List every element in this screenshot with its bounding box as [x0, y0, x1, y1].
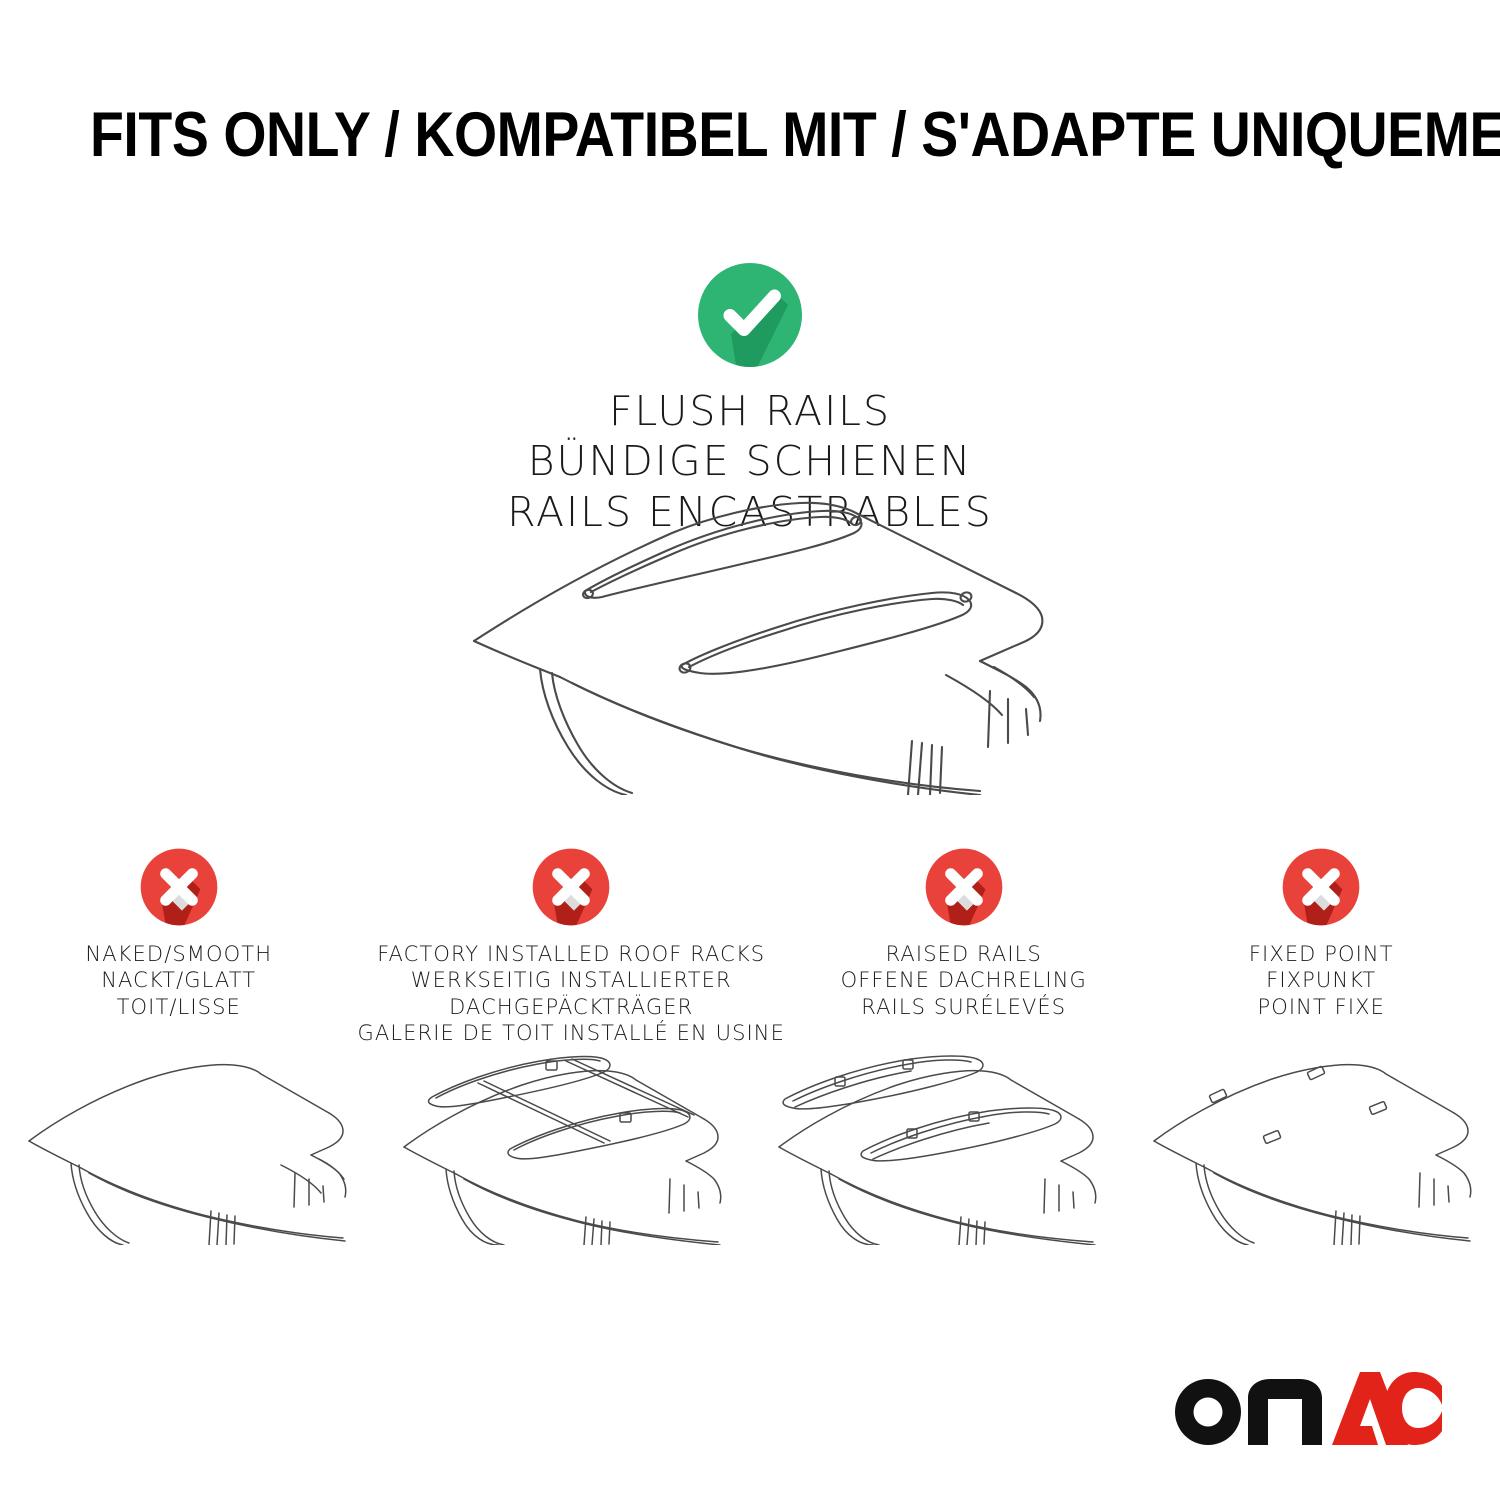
check-circle-icon — [693, 258, 807, 372]
incompatible-column-raised-rails: RAISED RAILS OFFENE DACHRELING RAILS SUR… — [785, 845, 1143, 1020]
compatible-label-line-2: BÜNDIGE SCHIENEN — [0, 436, 1500, 486]
fitment-infographic: FITS ONLY / KOMPATIBEL MIT / S'ADAPTE UN… — [0, 0, 1500, 1500]
omac-logo-mark — [1174, 1364, 1444, 1448]
incompatible-label-line: FACTORY INSTALLED ROOF RACKS — [377, 941, 765, 967]
logo-letter-c — [1384, 1372, 1442, 1445]
cross-circle-icon — [529, 845, 613, 929]
incompatible-label-line: DACHGEPÄCKTRÄGER — [449, 994, 693, 1020]
page-title: FITS ONLY / KOMPATIBEL MIT / S'ADAPTE UN… — [90, 104, 1410, 167]
incompatible-row: NAKED/SMOOTH NACKT/GLATT TOIT/LISSE — [0, 845, 1500, 1047]
incompatible-label-line: NACKT/GLATT — [101, 967, 256, 993]
car-roof-flush-rails-drawing — [460, 495, 1060, 795]
cross-circle-icon — [1279, 845, 1363, 929]
cross-icon-container — [529, 845, 613, 929]
incompatible-column-naked-smooth: NAKED/SMOOTH NACKT/GLATT TOIT/LISSE — [0, 845, 358, 1020]
car-roof-fixed-point-drawing — [1125, 1055, 1500, 1245]
cross-icon-container — [137, 845, 221, 929]
logo-letter-m — [1248, 1379, 1322, 1445]
car-roof-naked-drawing — [0, 1055, 375, 1245]
car-roof-factory-racks-drawing — [375, 1055, 750, 1245]
cross-circle-icon — [137, 845, 221, 929]
incompatible-drawings-row — [0, 1055, 1500, 1245]
incompatible-column-fixed-point: FIXED POINT FIXPUNKT POINT FIXE — [1143, 845, 1500, 1020]
incompatible-column-factory-racks: FACTORY INSTALLED ROOF RACKS WERKSEITIG … — [358, 845, 785, 1047]
incompatible-label-line: RAISED RAILS — [886, 941, 1042, 967]
cross-circle-icon — [922, 845, 1006, 929]
incompatible-label-line: NAKED/SMOOTH — [85, 941, 272, 967]
omac-logo — [1174, 1364, 1444, 1448]
incompatible-label-line: TOIT/LISSE — [117, 994, 241, 1020]
incompatible-label-line: OFFENE DACHRELING — [841, 967, 1087, 993]
cross-icon-container — [1279, 845, 1363, 929]
incompatible-label-line: RAILS SURÉLEVÉS — [861, 994, 1066, 1020]
check-icon-container — [0, 258, 1500, 372]
incompatible-label-line: FIXPUNKT — [1266, 967, 1376, 993]
compatible-label-line-1: FLUSH RAILS — [0, 386, 1500, 436]
incompatible-label-line: WERKSEITIG INSTALLIERTER — [411, 967, 732, 993]
incompatible-label-line: GALERIE DE TOIT INSTALLÉ EN USINE — [358, 1020, 785, 1046]
cross-icon-container — [922, 845, 1006, 929]
incompatible-label-line: FIXED POINT — [1249, 941, 1394, 967]
incompatible-label-line: POINT FIXE — [1257, 994, 1385, 1020]
car-roof-raised-rails-drawing — [750, 1055, 1125, 1245]
logo-letter-o — [1175, 1379, 1241, 1445]
